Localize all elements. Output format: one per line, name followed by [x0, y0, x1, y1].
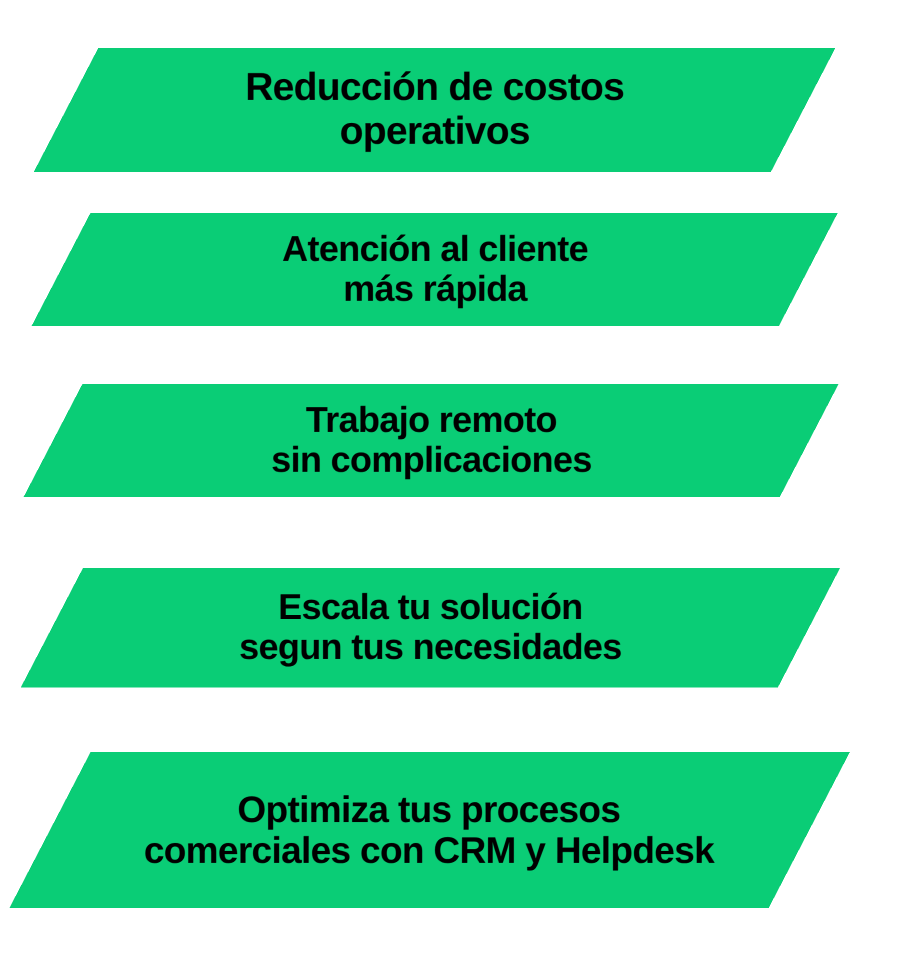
- benefit-banner-reduccion-de-costos-operativos[interactable]: Reducción de costos operativos: [34, 48, 836, 172]
- benefit-banner-label: Optimiza tus procesos comerciales con CR…: [136, 789, 722, 872]
- benefit-banner-label: Trabajo remoto sin complicaciones: [263, 400, 599, 481]
- benefits-banner-stack: Reducción de costos operativos Atención …: [0, 0, 917, 963]
- benefit-banner-escala-tu-solucion-segun-tus-necesidades[interactable]: Escala tu solución segun tus necesidades: [21, 568, 840, 687]
- benefit-banner-atencion-al-cliente-mas-rapida[interactable]: Atención al cliente más rápida: [32, 213, 838, 326]
- benefit-banner-trabajo-remoto-sin-complicaciones[interactable]: Trabajo remoto sin complicaciones: [24, 384, 839, 497]
- benefit-banner-optimiza-tus-procesos-comerciales-con-crm-y-helpdesk[interactable]: Optimiza tus procesos comerciales con CR…: [9, 752, 849, 908]
- benefit-banner-label: Atención al cliente más rápida: [274, 229, 596, 310]
- benefit-banner-label: Reducción de costos operativos: [237, 66, 632, 153]
- benefit-banner-label: Escala tu solución segun tus necesidades: [231, 587, 630, 668]
